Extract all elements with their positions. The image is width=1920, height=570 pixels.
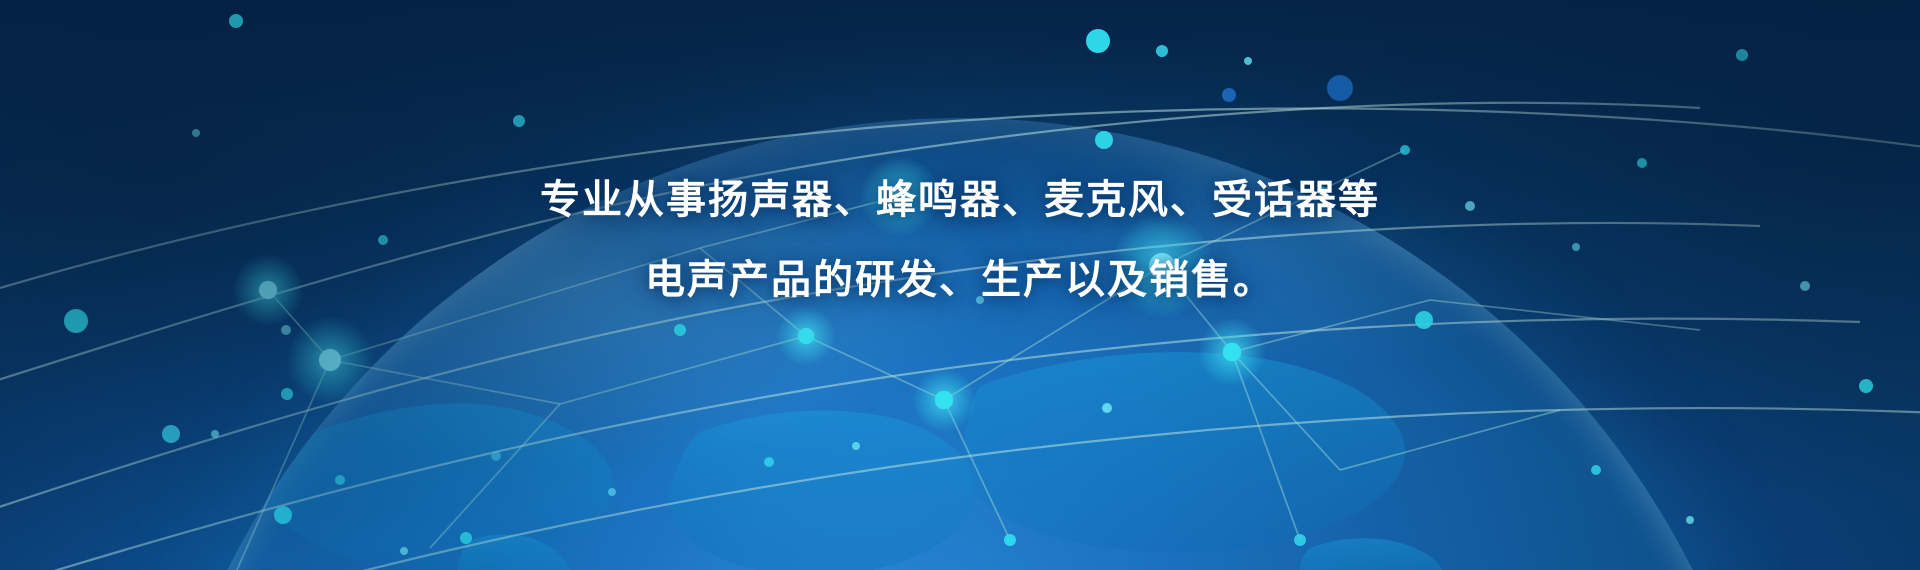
headline-line-1: 专业从事扬声器、蜂鸣器、麦克风、受话器等 bbox=[0, 160, 1920, 240]
hero-banner: 专业从事扬声器、蜂鸣器、麦克风、受话器等 电声产品的研发、生产以及销售。 bbox=[0, 0, 1920, 570]
headline-line-2: 电声产品的研发、生产以及销售。 bbox=[0, 240, 1920, 320]
banner-headline: 专业从事扬声器、蜂鸣器、麦克风、受话器等 电声产品的研发、生产以及销售。 bbox=[0, 160, 1920, 320]
